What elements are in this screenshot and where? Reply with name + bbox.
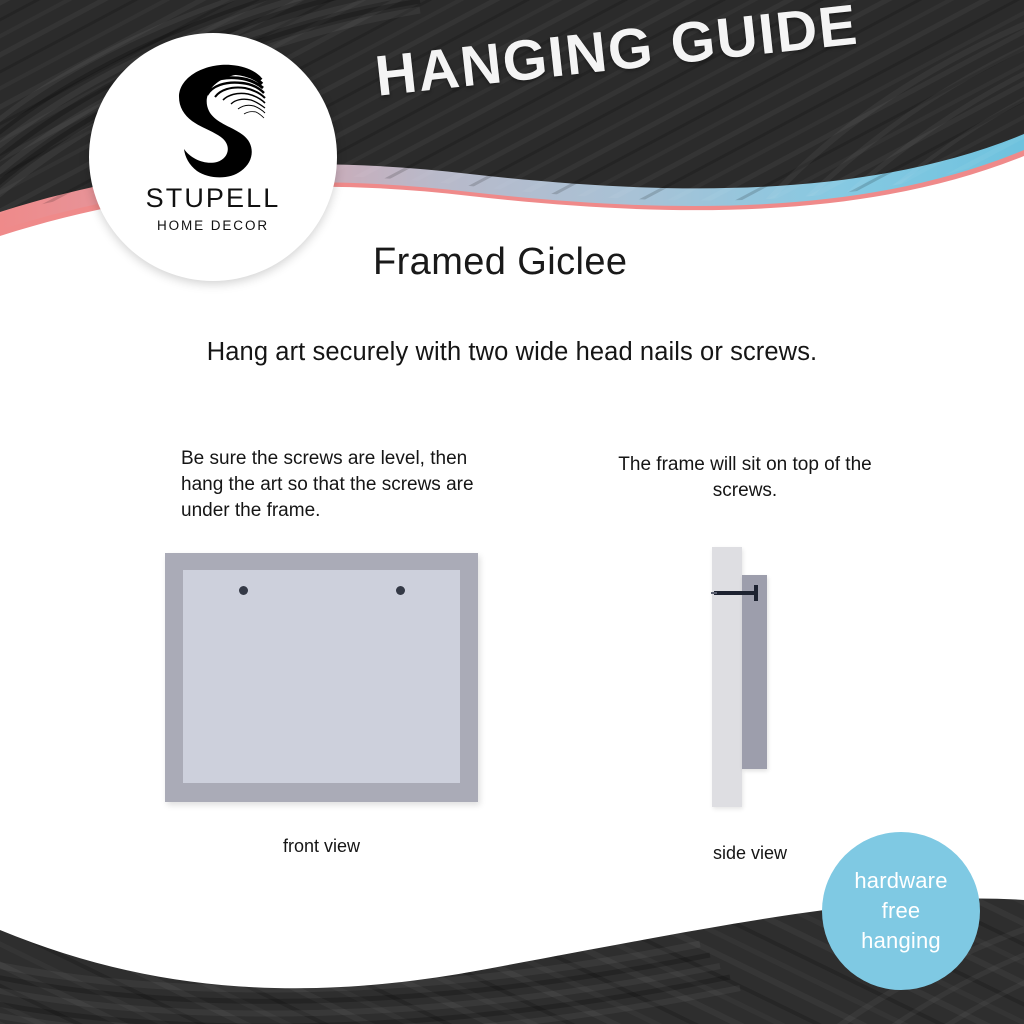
- badge-line-1: hardware: [854, 866, 947, 896]
- nail-tip-icon: [711, 592, 717, 594]
- nail-icon: [714, 591, 756, 595]
- front-view-diagram: [165, 553, 478, 802]
- badge-line-2: free: [882, 896, 921, 926]
- side-view-wall: [712, 547, 742, 807]
- side-view-diagram: [710, 547, 790, 809]
- logo-sub-wordmark: HOME DECOR: [157, 219, 269, 233]
- side-view-frame: [742, 575, 767, 769]
- nail-head-icon: [754, 585, 758, 601]
- screw-dot-left: [239, 586, 248, 595]
- hanging-guide-page: STUPELL HOME DECOR HANGING GUIDE Framed …: [0, 0, 1024, 1024]
- front-view-label: front view: [165, 836, 478, 857]
- hardware-free-hanging-badge: hardware free hanging: [822, 832, 980, 990]
- main-instruction-text: Hang art securely with two wide head nai…: [0, 338, 1024, 367]
- front-view-mat: [183, 570, 460, 783]
- stupell-logo-badge: STUPELL HOME DECOR: [89, 33, 337, 281]
- page-title: HANGING GUIDE: [372, 0, 896, 110]
- badge-line-3: hanging: [861, 926, 941, 956]
- screw-dot-right: [396, 586, 405, 595]
- side-view-label: side view: [655, 843, 845, 864]
- stupell-swoosh-icon: [157, 61, 269, 179]
- product-type-label: Framed Giclee: [373, 241, 627, 284]
- side-view-caption: The frame will sit on top of the screws.: [600, 452, 890, 504]
- logo-wordmark: STUPELL: [146, 185, 281, 212]
- front-view-caption: Be sure the screws are level, then hang …: [181, 446, 481, 524]
